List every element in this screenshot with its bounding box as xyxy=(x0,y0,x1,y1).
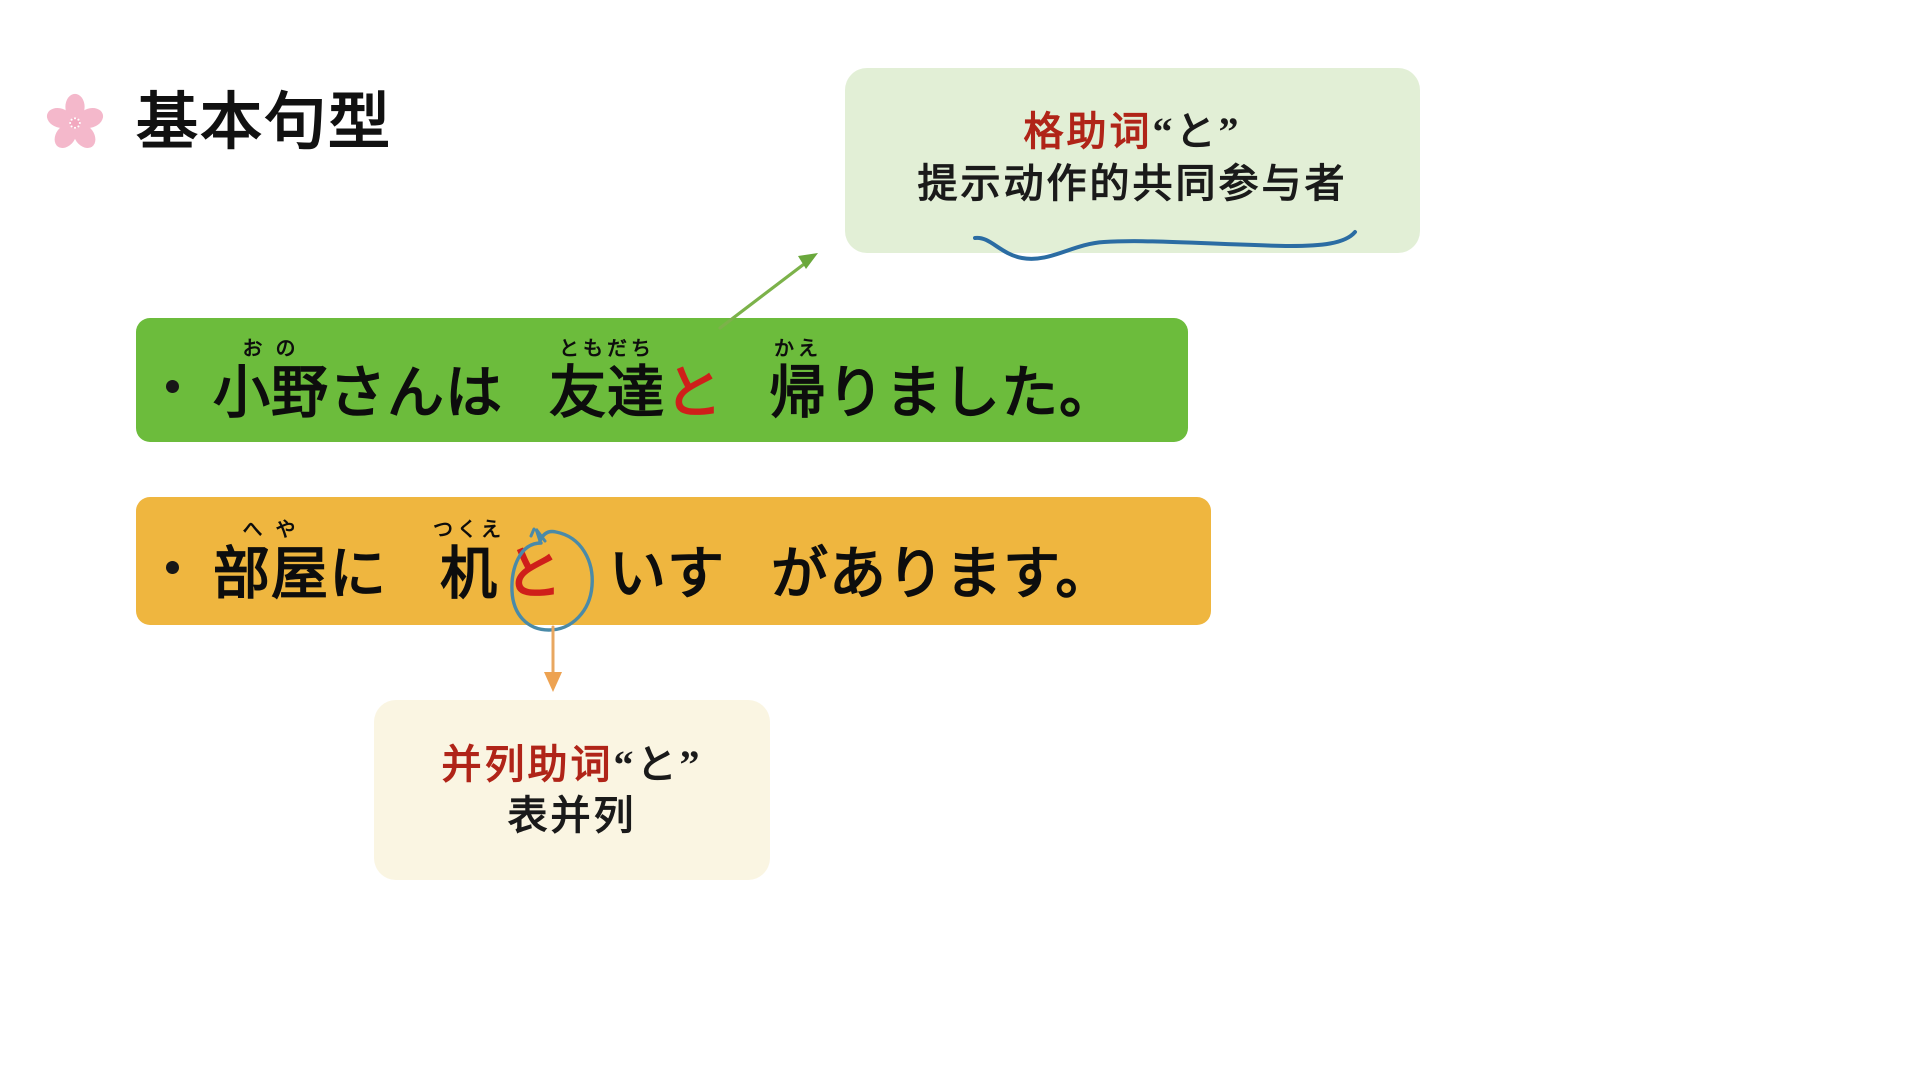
kanji-tsukue: 机 xyxy=(440,546,498,603)
sentence-bar-orange: へ や 部屋 に つくえ 机 といすがあります。 xyxy=(136,497,1211,625)
callout-case-line2: 提示动作的共同参与者 xyxy=(918,158,1348,209)
slide-header: 基本句型 xyxy=(44,92,392,154)
sentence-orange-text: へ や 部屋 に つくえ 机 といすがあります。 xyxy=(213,520,1113,603)
callout-parallel-line2: 表并列 xyxy=(508,790,637,841)
ruby-group-tomodachi: ともだち 友達 xyxy=(549,339,665,422)
callout-parallel-line1: 并列助词“と” xyxy=(442,739,703,790)
particle-to-orange: と xyxy=(505,546,563,603)
sentence-orange-tail: があります。 xyxy=(771,546,1113,603)
sentence-green-tail: りました。 xyxy=(827,365,1117,422)
kanji-kae: 帰 xyxy=(769,365,827,422)
callout-parallel-quoted-particle: “と” xyxy=(614,742,703,787)
sentence-orange-isu: いす xyxy=(609,546,725,603)
ruby-group-tsukue: つくえ 机 xyxy=(433,520,505,603)
kanji-tomodachi: 友達 xyxy=(549,365,665,422)
sentence-green-sanwa: さんは xyxy=(329,365,503,422)
sentence-orange-ni: に xyxy=(329,546,387,603)
page-title: 基本句型 xyxy=(136,92,392,154)
green-arrow-up-right xyxy=(720,253,818,328)
ruby-group-ono: お の 小野 xyxy=(213,339,329,422)
slide-canvas: 基本句型 格助词“と” 提示动作的共同参与者 お の 小野 さんは ともだち 友… xyxy=(0,0,1920,1080)
furigana-kae: かえ xyxy=(774,339,822,359)
furigana-tsukue: つくえ xyxy=(433,520,505,540)
furigana-heya: へ や xyxy=(243,520,300,540)
callout-parallel-particle: 并列助词“と” 表并列 xyxy=(374,700,770,880)
bullet-dot-icon xyxy=(166,380,179,393)
ruby-group-kaeri: かえ 帰 xyxy=(769,339,827,422)
orange-arrow-down xyxy=(544,627,562,692)
furigana-ono: お の xyxy=(243,339,300,359)
callout-case-term: 格助词 xyxy=(1024,109,1153,154)
kanji-heya: 部屋 xyxy=(213,546,329,603)
sentence-green-text: お の 小野 さんは ともだち 友達 と かえ 帰 りました。 xyxy=(213,339,1117,422)
callout-case-line1: 格助词“と” xyxy=(1024,106,1242,157)
callout-case-particle: 格助词“と” 提示动作的共同参与者 xyxy=(845,68,1420,253)
furigana-tomodachi: ともだち xyxy=(559,339,655,359)
sakura-flower-icon xyxy=(44,92,106,154)
kanji-ono: 小野 xyxy=(213,365,329,422)
ruby-group-heya: へ や 部屋 xyxy=(213,520,329,603)
bullet-dot-icon xyxy=(166,561,179,574)
sentence-bar-green: お の 小野 さんは ともだち 友達 と かえ 帰 りました。 xyxy=(136,318,1188,442)
particle-to-green: と xyxy=(665,365,723,422)
callout-case-quoted-particle: “と” xyxy=(1153,109,1242,154)
callout-parallel-term: 并列助词 xyxy=(442,742,614,787)
